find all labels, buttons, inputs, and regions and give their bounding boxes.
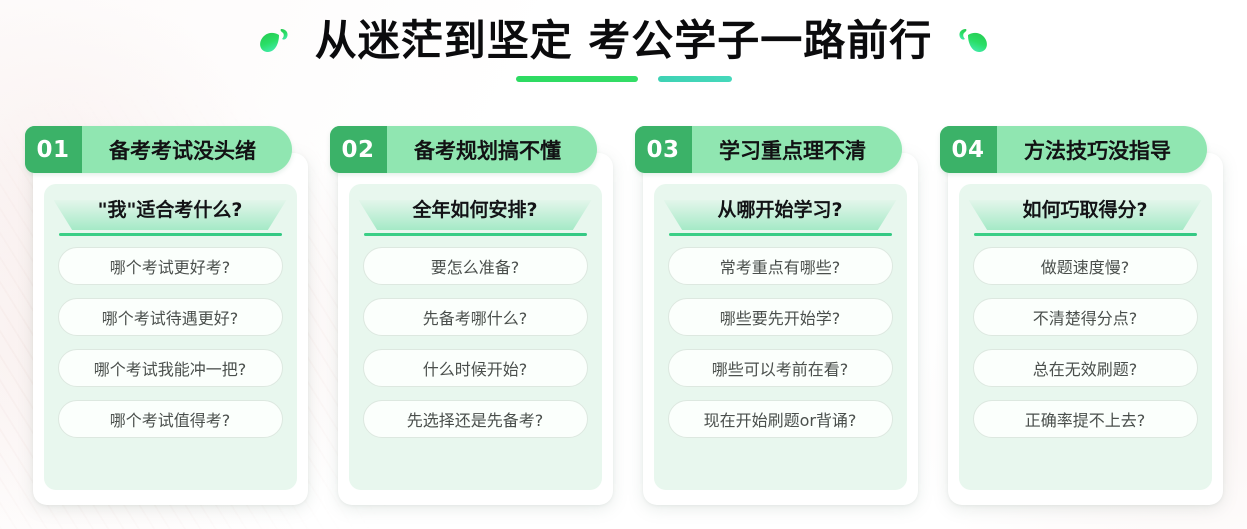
list-item[interactable]: 哪个考试待遇更好? <box>58 298 283 336</box>
problem-card: 03 学习重点理不清 从哪开始学习? 常考重点有哪些? 哪些要先开始学? 哪些可… <box>635 126 918 505</box>
card-header-title: 备考考试没头绪 <box>82 135 292 165</box>
leaf-icon <box>257 21 297 61</box>
leaf-icon <box>950 21 990 61</box>
subtitle-rule <box>669 233 892 236</box>
problem-card: 02 备考规划搞不懂 全年如何安排? 要怎么准备? 先备考哪什么? 什么时候开始… <box>330 126 613 505</box>
title-underline <box>516 76 732 82</box>
page-title: 从迷茫到坚定 考公学子一路前行 <box>315 20 933 62</box>
list-item[interactable]: 现在开始刷题or背诵? <box>668 400 893 438</box>
question-list: 哪个考试更好考? 哪个考试待遇更好? 哪个考试我能冲一把? 哪个考试值得考? <box>58 247 283 438</box>
list-item[interactable]: 总在无效刷题? <box>973 349 1198 387</box>
problem-card: 04 方法技巧没指导 如何巧取得分? 做题速度慢? 不清楚得分点? 总在无效刷题… <box>940 126 1223 505</box>
list-item[interactable]: 先备考哪什么? <box>363 298 588 336</box>
list-item[interactable]: 正确率提不上去? <box>973 400 1198 438</box>
card-grid: 01 备考考试没头绪 "我"适合考什么? 哪个考试更好考? 哪个考试待遇更好? … <box>0 126 1247 511</box>
list-item[interactable]: 哪个考试我能冲一把? <box>58 349 283 387</box>
question-list: 常考重点有哪些? 哪些要先开始学? 哪些可以考前在看? 现在开始刷题or背诵? <box>668 247 893 438</box>
card-header: 04 方法技巧没指导 <box>940 126 1207 173</box>
list-item[interactable]: 要怎么准备? <box>363 247 588 285</box>
title-row: 从迷茫到坚定 考公学子一路前行 <box>257 2 991 80</box>
card-body: 从哪开始学习? 常考重点有哪些? 哪些要先开始学? 哪些可以考前在看? 现在开始… <box>654 184 907 490</box>
question-list: 做题速度慢? 不清楚得分点? 总在无效刷题? 正确率提不上去? <box>973 247 1198 438</box>
list-item[interactable]: 做题速度慢? <box>973 247 1198 285</box>
card-number-badge: 01 <box>25 126 82 173</box>
question-list: 要怎么准备? 先备考哪什么? 什么时候开始? 先选择还是先备考? <box>363 247 588 438</box>
card-subtitle-wrap: 如何巧取得分? <box>965 190 1206 242</box>
card-header-title: 方法技巧没指导 <box>997 135 1207 165</box>
list-item[interactable]: 不清楚得分点? <box>973 298 1198 336</box>
page-header: 从迷茫到坚定 考公学子一路前行 <box>0 0 1247 112</box>
underline-bar-primary <box>516 76 638 82</box>
card-number-badge: 04 <box>940 126 997 173</box>
list-item[interactable]: 哪些可以考前在看? <box>668 349 893 387</box>
list-item[interactable]: 哪些要先开始学? <box>668 298 893 336</box>
card-number-badge: 03 <box>635 126 692 173</box>
list-item[interactable]: 什么时候开始? <box>363 349 588 387</box>
card-header-title: 学习重点理不清 <box>692 135 902 165</box>
card-body: 全年如何安排? 要怎么准备? 先备考哪什么? 什么时候开始? 先选择还是先备考? <box>349 184 602 490</box>
card-subtitle: 如何巧取得分? <box>965 190 1206 230</box>
subtitle-rule <box>974 233 1197 236</box>
card-subtitle: "我"适合考什么? <box>50 190 291 230</box>
card-body: "我"适合考什么? 哪个考试更好考? 哪个考试待遇更好? 哪个考试我能冲一把? … <box>44 184 297 490</box>
card-number-badge: 02 <box>330 126 387 173</box>
card-body: 如何巧取得分? 做题速度慢? 不清楚得分点? 总在无效刷题? 正确率提不上去? <box>959 184 1212 490</box>
card-subtitle-wrap: 从哪开始学习? <box>660 190 901 242</box>
card-header: 02 备考规划搞不懂 <box>330 126 597 173</box>
subtitle-rule <box>59 233 282 236</box>
problem-card: 01 备考考试没头绪 "我"适合考什么? 哪个考试更好考? 哪个考试待遇更好? … <box>25 126 308 505</box>
card-subtitle: 全年如何安排? <box>355 190 596 230</box>
card-subtitle-wrap: 全年如何安排? <box>355 190 596 242</box>
list-item[interactable]: 常考重点有哪些? <box>668 247 893 285</box>
card-subtitle-wrap: "我"适合考什么? <box>50 190 291 242</box>
card-subtitle: 从哪开始学习? <box>660 190 901 230</box>
card-header-title: 备考规划搞不懂 <box>387 135 597 165</box>
card-header: 03 学习重点理不清 <box>635 126 902 173</box>
list-item[interactable]: 哪个考试更好考? <box>58 247 283 285</box>
card-header: 01 备考考试没头绪 <box>25 126 292 173</box>
list-item[interactable]: 哪个考试值得考? <box>58 400 283 438</box>
underline-bar-secondary <box>658 76 732 82</box>
subtitle-rule <box>364 233 587 236</box>
list-item[interactable]: 先选择还是先备考? <box>363 400 588 438</box>
